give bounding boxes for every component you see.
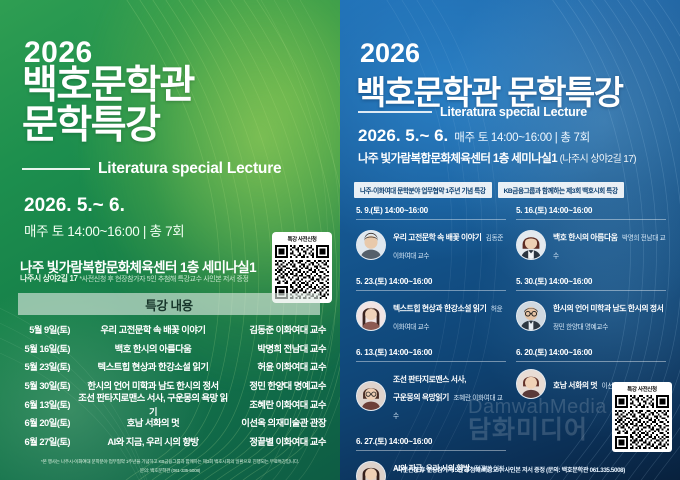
row-date: 5월 23일(토) [14,359,76,373]
avatar-female-short-hair-icon [517,370,545,398]
card-info: 텍스트힙 현상과 한강소설 읽기 허윤 이화여대 교수 [393,298,506,334]
blue-subtitle-row: Literatura special Lecture [358,105,668,119]
card-date: 5. 23.(토) 14:00~16:00 [356,275,506,291]
row-title: 조선 판타지로맨스 서사, 구운몽의 욕망 읽기 [76,390,230,418]
row-date: 5월 16일(토) [14,341,76,355]
blue-date-big: 2026. 5.~ 6. [358,126,448,146]
avatar-female-bob-red-icon [517,231,545,259]
card-title: 한시의 언어 미학과 남도 한시의 정서 [553,304,663,313]
blue-date-line: 2026. 5.~ 6. 매주 토 14:00~16:00 | 총 7회 [358,126,590,146]
status-badge: 나주-이화여대 문학분야 업무협약 1주년 기념 특강 [354,182,492,198]
row-speaker: 이선옥 의재미술관 관장 [230,415,326,429]
avatar [516,230,546,260]
green-address-row: 나주시 상야2길 17 *사전신청 후 현장참가자 5인 추첨해 특강교수 사인… [20,273,249,284]
card-date: 5. 16.(토) 14:00~16:00 [516,204,666,220]
avatar-female-glasses-icon [357,382,385,410]
card-date: 6. 13.(토) 14:00~16:00 [356,346,506,362]
blue-subtitle: Literatura special Lecture [440,105,587,119]
green-title-line1: 백호문학관 [22,66,194,106]
table-row: 5월 16일(토) 백호 한시의 아름다움 박명희 전남대 교수 [14,339,326,358]
qr-code-icon[interactable] [615,395,669,449]
row-title: AI와 지금, 우리 시의 향방 [76,434,230,448]
green-date-range: 2026. 5.~ 6. [24,195,125,217]
green-title-line2: 문학특강 [22,106,160,146]
green-time-info: 매주 토 14:00~16:00 | 총 7회 [24,220,184,240]
card-date: 5. 30.(토) 14:00~16:00 [516,275,666,291]
table-row: 6월 13일(토) 조선 판타지로맨스 서사, 구운몽의 욕망 읽기 조혜란 이… [14,394,326,413]
avatar-male-short-hair-icon [357,231,385,259]
list-item: 5. 23.(토) 14:00~16:00 텍스트힙 현상과 한강소설 읽기 허… [356,269,506,340]
list-item: 6. 13.(토) 14:00~16:00 [356,340,506,429]
blue-footer: *사전신청 후 현장참가자 5인 추첨해 특강교수 사인본 저서 증정 (문의:… [350,465,670,474]
card-info: 조선 판타지로맨스 서사, 구운몽의 욕망읽기 조혜란 이화여대 교수 [393,369,506,423]
list-item: 5. 16.(토) 14:00~16:00 백호 한시의 아름다움 박명희 전남… [516,198,666,269]
green-address: 나주시 상야2길 17 [20,274,78,283]
table-row: 5월 23일(토) 텍스트힙 현상과 한강소설 읽기 허윤 이화여대 교수 [14,357,326,376]
table-row: 5월 9일(토) 우리 고전문학 속 배꽃 이야기 김동준 이화여대 교수 [14,320,326,339]
blue-year: 2026 [360,38,420,69]
blue-qr-caption: 특강 사전신청 [615,385,669,393]
avatar [356,301,386,331]
list-item: 5. 30.(토) 14:00~16:00 [516,269,666,340]
row-speaker: 정끝별 이화여대 교수 [230,434,326,448]
green-footer-line2: 문의: 백호문학관 (061-335-5008) [10,468,330,474]
blue-venue: 나주 빛가람복합문화체육센터 1층 세미나실1 [358,153,557,165]
avatar [516,301,546,331]
row-date: 6월 20일(토) [14,415,76,429]
card-speaker: 정민 한양대 명예교수 [553,324,608,331]
row-date: 5월 9일(토) [14,322,76,336]
row-speaker: 정민 한양대 명예교수 [230,378,326,392]
qr-code-icon[interactable] [275,245,329,299]
card-info: 백호 한시의 아름다움 박명희 전남대 교수 [553,227,666,263]
row-speaker: 김동준 이화여대 교수 [230,322,326,336]
green-footer: *본 행사는 나주시-이화여대 문학분야 업무협약 1주년을 기념하고 KB금융… [10,459,330,474]
green-subtitle: Literatura special Lecture [98,160,281,178]
row-speaker: 박명희 전남대 교수 [230,341,326,355]
speaker-card: 백호 한시의 아름다움 박명희 전남대 교수 [516,220,666,269]
card-date: 6. 20.(토) 14:00~16:00 [516,346,666,362]
avatar-female-long-hair-icon [357,302,385,330]
row-date: 6월 13일(토) [14,397,76,411]
blue-badge-group: 나주-이화여대 문학분야 업무협약 1주년 기념 특강 KB금융그룹과 함께하는… [354,182,624,198]
card-title: 우리 고전문학 속 배꽃 이야기 [393,233,481,242]
row-title: 백호 한시의 아름다움 [76,341,230,355]
table-row: 6월 20일(토) 호남 서화의 멋 이선옥 의재미술관 관장 [14,413,326,432]
blue-poster-panel: 2026 백호문학관 문학특강 Literatura special Lectu… [340,0,680,480]
row-speaker: 허윤 이화여대 교수 [230,359,326,373]
avatar-male-glasses-icon [517,302,545,330]
card-info: 우리 고전문학 속 배꽃 이야기 김동준 이화여대 교수 [393,227,506,263]
green-poster-panel: 2026 백호문학관 문학특강 Literatura special Lectu… [0,0,340,480]
blue-venue-address: (나주시 상야2길 17) [560,154,636,165]
speaker-card: 한시의 언어 미학과 남도 한시의 정서 정민 한양대 명예교수 [516,291,666,340]
card-title: 호남 서화의 멋 [553,381,597,390]
list-item: 5. 9.(토) 14:00~16:00 우리 고전문학 속 배꽃 이야기 김동… [356,198,506,269]
row-date: 5월 30일(토) [14,378,76,392]
speaker-card: 조선 판타지로맨스 서사, 구운몽의 욕망읽기 조혜란 이화여대 교수 [356,362,506,429]
card-date: 6. 27.(토) 14:00~16:00 [356,435,506,451]
avatar [356,230,386,260]
row-title: 호남 서화의 멋 [76,415,230,429]
green-subtitle-rule [22,168,90,170]
card-title: 텍스트힙 현상과 한강소설 읽기 [393,304,486,313]
card-title: 백호 한시의 아름다움 [553,233,618,242]
green-qr-caption: 특강 사전신청 [275,235,329,243]
blue-venue-row: 나주 빛가람복합문화체육센터 1층 세미나실1 (나주시 상야2길 17) [358,150,636,166]
green-address-note: *사전신청 후 현장참가자 5인 추첨해 특강교수 사인본 저서 증정 [79,276,248,283]
speaker-card: 우리 고전문학 속 배꽃 이야기 김동준 이화여대 교수 [356,220,506,269]
row-date: 6월 27일(토) [14,434,76,448]
avatar [356,381,386,411]
green-subtitle-row: Literatura special Lecture [22,160,322,178]
row-speaker: 조혜란 이화여대 교수 [230,397,326,411]
row-title: 텍스트힙 현상과 한강소설 읽기 [76,359,230,373]
green-table-header: 특강 내용 [18,293,320,315]
blue-subtitle-rule [358,111,432,112]
blue-date-small: 매주 토 14:00~16:00 | 총 7회 [454,129,590,145]
speaker-card: 텍스트힙 현상과 한강소설 읽기 허윤 이화여대 교수 [356,291,506,340]
row-title: 우리 고전문학 속 배꽃 이야기 [76,322,230,336]
status-badge: KB금융그룹과 함께하는 제3회 백호시회 특강 [498,182,624,198]
card-info: 한시의 언어 미학과 남도 한시의 정서 정민 한양대 명예교수 [553,298,666,334]
table-row: 6월 27일(토) AI와 지금, 우리 시의 향방 정끝별 이화여대 교수 [14,432,326,451]
avatar [516,369,546,399]
card-date: 5. 9.(토) 14:00~16:00 [356,204,506,220]
green-schedule-table: 5월 9일(토) 우리 고전문학 속 배꽃 이야기 김동준 이화여대 교수 5월… [14,320,326,450]
blue-qr-block[interactable]: 특강 사전신청 [612,382,672,452]
green-footer-line1: *본 행사는 나주시-이화여대 문학분야 업무협약 1주년을 기념하고 KB금융… [10,459,330,466]
